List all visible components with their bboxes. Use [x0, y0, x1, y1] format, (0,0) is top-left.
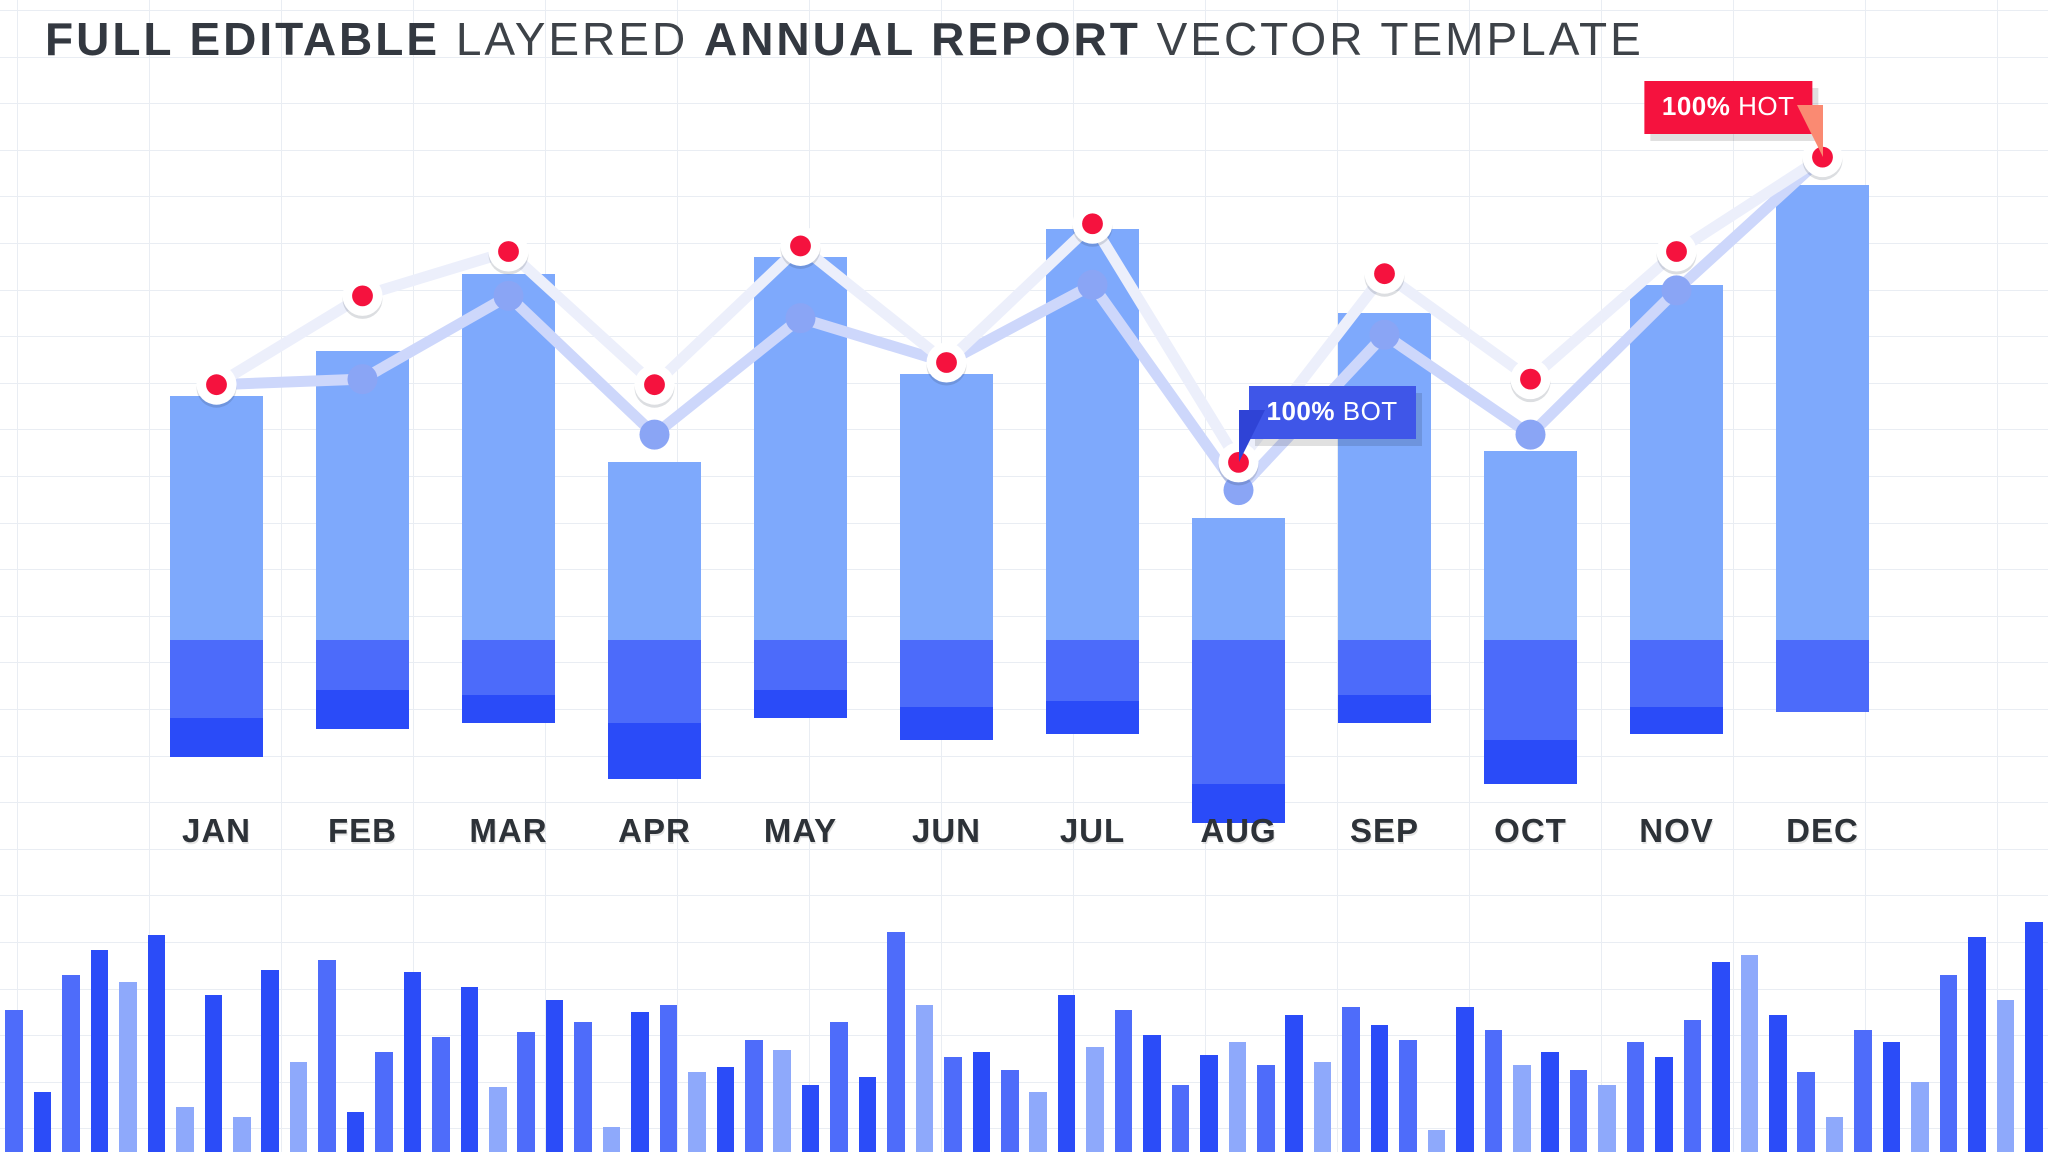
- line-a-marker[interactable]: [1374, 263, 1395, 284]
- sparkline-bar: [631, 1012, 649, 1152]
- sparkline-bar: [318, 960, 336, 1152]
- sparkline-bar: [233, 1117, 251, 1152]
- sparkline-bar: [1371, 1025, 1389, 1152]
- line-a-marker[interactable]: [206, 374, 227, 395]
- sparkline-bar: [1883, 1042, 1901, 1152]
- badge-bot-percent: 100%: [1267, 396, 1336, 426]
- sparkline-bar: [1968, 937, 1986, 1152]
- sparkline-bar: [1115, 1010, 1133, 1152]
- line-b-marker[interactable]: [1516, 420, 1546, 450]
- month-label-jun: JUN: [874, 812, 1019, 850]
- sparkline-bar: [546, 1000, 564, 1152]
- month-label-dec: DEC: [1750, 812, 1895, 850]
- badge-bot-pointer: [1239, 410, 1265, 462]
- sparkline-bar: [176, 1107, 194, 1152]
- sparkline-bar: [802, 1085, 820, 1152]
- sparkline-bar: [1684, 1020, 1702, 1152]
- line-a-marker[interactable]: [352, 286, 373, 307]
- sparkline-bar: [745, 1040, 763, 1152]
- sparkline-bar: [375, 1052, 393, 1152]
- sparkline-bar: [62, 975, 80, 1152]
- month-axis: JANFEBMARAPRMAYJUNJULAUGSEPOCTNOVDEC: [0, 800, 2048, 880]
- line-a-marker[interactable]: [790, 236, 811, 257]
- sparkline-bar: [1826, 1117, 1844, 1152]
- sparkline-bar: [1285, 1015, 1303, 1152]
- sparkline-bar: [603, 1127, 621, 1152]
- line-b-marker[interactable]: [640, 420, 670, 450]
- line-a-marker[interactable]: [1520, 369, 1541, 390]
- badge-hot-percent: 100%: [1662, 91, 1731, 121]
- line-a-marker[interactable]: [936, 352, 957, 373]
- sparkline-bar: [1342, 1007, 1360, 1152]
- sparkline-bar: [1854, 1030, 1872, 1152]
- sparkline-bar: [1143, 1035, 1161, 1152]
- sparkline-bar: [1570, 1070, 1588, 1152]
- annual-report-chart: JANFEBMARAPRMAYJUNJULAUGSEPOCTNOVDEC 100…: [0, 0, 2048, 880]
- sparkline-bar: [1485, 1030, 1503, 1152]
- sparkline-bar: [432, 1037, 450, 1152]
- line-b-marker[interactable]: [786, 303, 816, 333]
- sparkline-bar: [717, 1067, 735, 1152]
- sparkline-bar: [1257, 1065, 1275, 1152]
- sparkline-bar: [1769, 1015, 1787, 1152]
- sparkline-bar: [489, 1087, 507, 1152]
- sparkline-bar: [1058, 995, 1076, 1152]
- sparkline-bar: [1712, 962, 1730, 1152]
- sparkline-bar: [1172, 1085, 1190, 1152]
- sparkline-strip: [0, 880, 2048, 1152]
- badge-hot-pointer: [1797, 105, 1823, 157]
- sparkline-bar: [1229, 1042, 1247, 1152]
- month-label-oct: OCT: [1458, 812, 1603, 850]
- sparkline-bar: [1797, 1072, 1815, 1152]
- sparkline-bar: [859, 1077, 877, 1152]
- line-a-marker[interactable]: [498, 241, 519, 262]
- month-label-nov: NOV: [1604, 812, 1749, 850]
- sparkline-bar: [887, 932, 905, 1152]
- month-label-jul: JUL: [1020, 812, 1165, 850]
- line-b-path: [217, 157, 1823, 490]
- line-b-marker[interactable]: [348, 364, 378, 394]
- sparkline-bar: [1513, 1065, 1531, 1152]
- badge-hot-label: HOT: [1738, 91, 1794, 121]
- sparkline-bar: [1598, 1085, 1616, 1152]
- sparkline-bar: [1627, 1042, 1645, 1152]
- sparkline-bar: [404, 972, 422, 1152]
- sparkline-bar: [1086, 1047, 1104, 1152]
- month-label-may: MAY: [728, 812, 873, 850]
- sparkline-bar: [1741, 955, 1759, 1152]
- sparkline-bar: [205, 995, 223, 1152]
- sparkline-bar: [1456, 1007, 1474, 1152]
- sparkline-bar: [261, 970, 279, 1152]
- line-b-marker[interactable]: [1078, 270, 1108, 300]
- sparkline-bar: [973, 1052, 991, 1152]
- line-b-marker[interactable]: [1662, 275, 1692, 305]
- sparkline-bar: [1940, 975, 1958, 1152]
- line-b-marker[interactable]: [494, 281, 524, 311]
- sparkline-bar: [1997, 1000, 2015, 1152]
- sparkline-bar: [1428, 1130, 1446, 1152]
- sparkline-bar: [1655, 1057, 1673, 1152]
- sparkline-bar: [660, 1005, 678, 1152]
- sparkline-bar: [1399, 1040, 1417, 1152]
- month-label-feb: FEB: [290, 812, 435, 850]
- month-label-aug: AUG: [1166, 812, 1311, 850]
- sparkline-bar: [119, 982, 137, 1152]
- month-label-sep: SEP: [1312, 812, 1457, 850]
- sparkline-bar: [1314, 1062, 1332, 1152]
- month-label-jan: JAN: [144, 812, 289, 850]
- sparkline-bar: [91, 950, 109, 1152]
- sparkline-bar: [290, 1062, 308, 1152]
- sparkline-bar: [148, 935, 166, 1152]
- sparkline-bar: [830, 1022, 848, 1152]
- line-a-marker[interactable]: [644, 374, 665, 395]
- badge-bot-label: BOT: [1343, 396, 1398, 426]
- sparkline-bar: [1001, 1070, 1019, 1152]
- sparkline-bar: [1911, 1082, 1929, 1152]
- sparkline-bar: [944, 1057, 962, 1152]
- sparkline-bar: [916, 1005, 934, 1152]
- sparkline-bar: [517, 1032, 535, 1152]
- sparkline-bar: [5, 1010, 23, 1152]
- badge-hot[interactable]: 100% HOT: [1644, 81, 1813, 134]
- sparkline-bar: [1541, 1052, 1559, 1152]
- sparkline-bar: [574, 1022, 592, 1152]
- sparkline-bar: [2025, 922, 2043, 1152]
- sparkline-bar: [773, 1050, 791, 1152]
- month-label-mar: MAR: [436, 812, 581, 850]
- line-a-marker[interactable]: [1666, 241, 1687, 262]
- month-label-apr: APR: [582, 812, 727, 850]
- sparkline-bar: [1029, 1092, 1047, 1152]
- line-a-marker[interactable]: [1082, 213, 1103, 234]
- line-b-marker[interactable]: [1370, 320, 1400, 350]
- line-a-path: [217, 157, 1823, 462]
- sparkline-bar: [1200, 1055, 1218, 1152]
- sparkline-bar: [347, 1112, 365, 1152]
- sparkline-bar: [34, 1092, 52, 1152]
- badge-bot[interactable]: 100% BOT: [1249, 386, 1416, 439]
- sparkline-bar: [461, 987, 479, 1152]
- sparkline-bar: [688, 1072, 706, 1152]
